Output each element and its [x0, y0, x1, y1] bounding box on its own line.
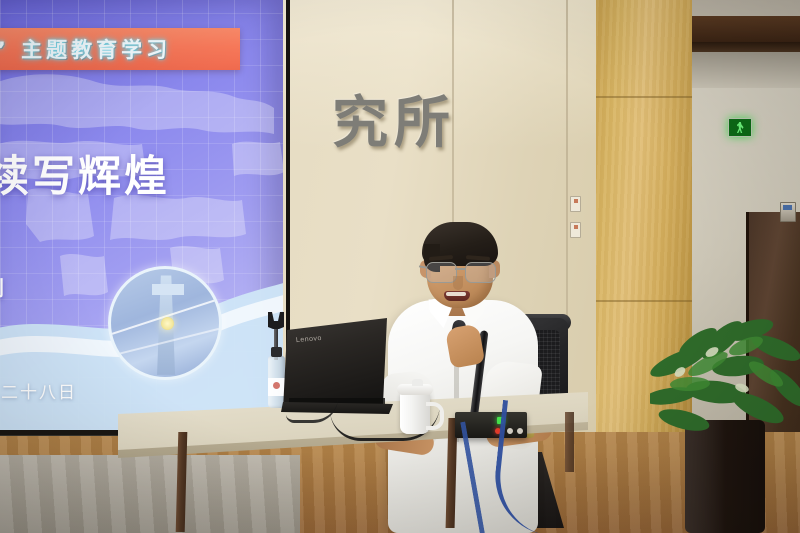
pillar-seam-top [596, 96, 692, 98]
slide-date-text: 月二十八日 [0, 378, 77, 403]
projection-screen: ” 主题教育学习 续写辉煌 利 月二十八日 [0, 0, 283, 430]
tile-floor [0, 455, 300, 533]
light-switch-lower[interactable] [570, 222, 581, 238]
slide-main-title: 续写辉煌 [0, 142, 170, 204]
potted-plant [650, 300, 800, 533]
person-nose [453, 276, 463, 290]
water-bottle[interactable] [268, 356, 285, 408]
slide-banner: ” 主题教育学习 [0, 28, 240, 70]
exit-sign-icon [728, 118, 752, 137]
door-header-beam [692, 16, 800, 42]
slide-photo-circle [108, 266, 222, 380]
person-mouth [444, 291, 470, 301]
slide-banner-text: ” 主题教育学习 [0, 34, 171, 64]
travel-mug[interactable] [400, 392, 430, 434]
slide-subtitle: 利 [0, 272, 6, 301]
photo-scene: ” 主题教育学习 续写辉煌 利 月二十八日 究所 [0, 0, 800, 533]
laptop-lid[interactable] [283, 318, 387, 410]
corridor-ceiling [692, 52, 800, 88]
wall-calligraphy: 究所 [332, 78, 456, 159]
door-header-beam-2 [692, 42, 800, 52]
wall-card-reader-icon[interactable] [780, 202, 796, 222]
running-man-icon [737, 122, 744, 133]
light-switch-upper[interactable] [570, 196, 581, 212]
